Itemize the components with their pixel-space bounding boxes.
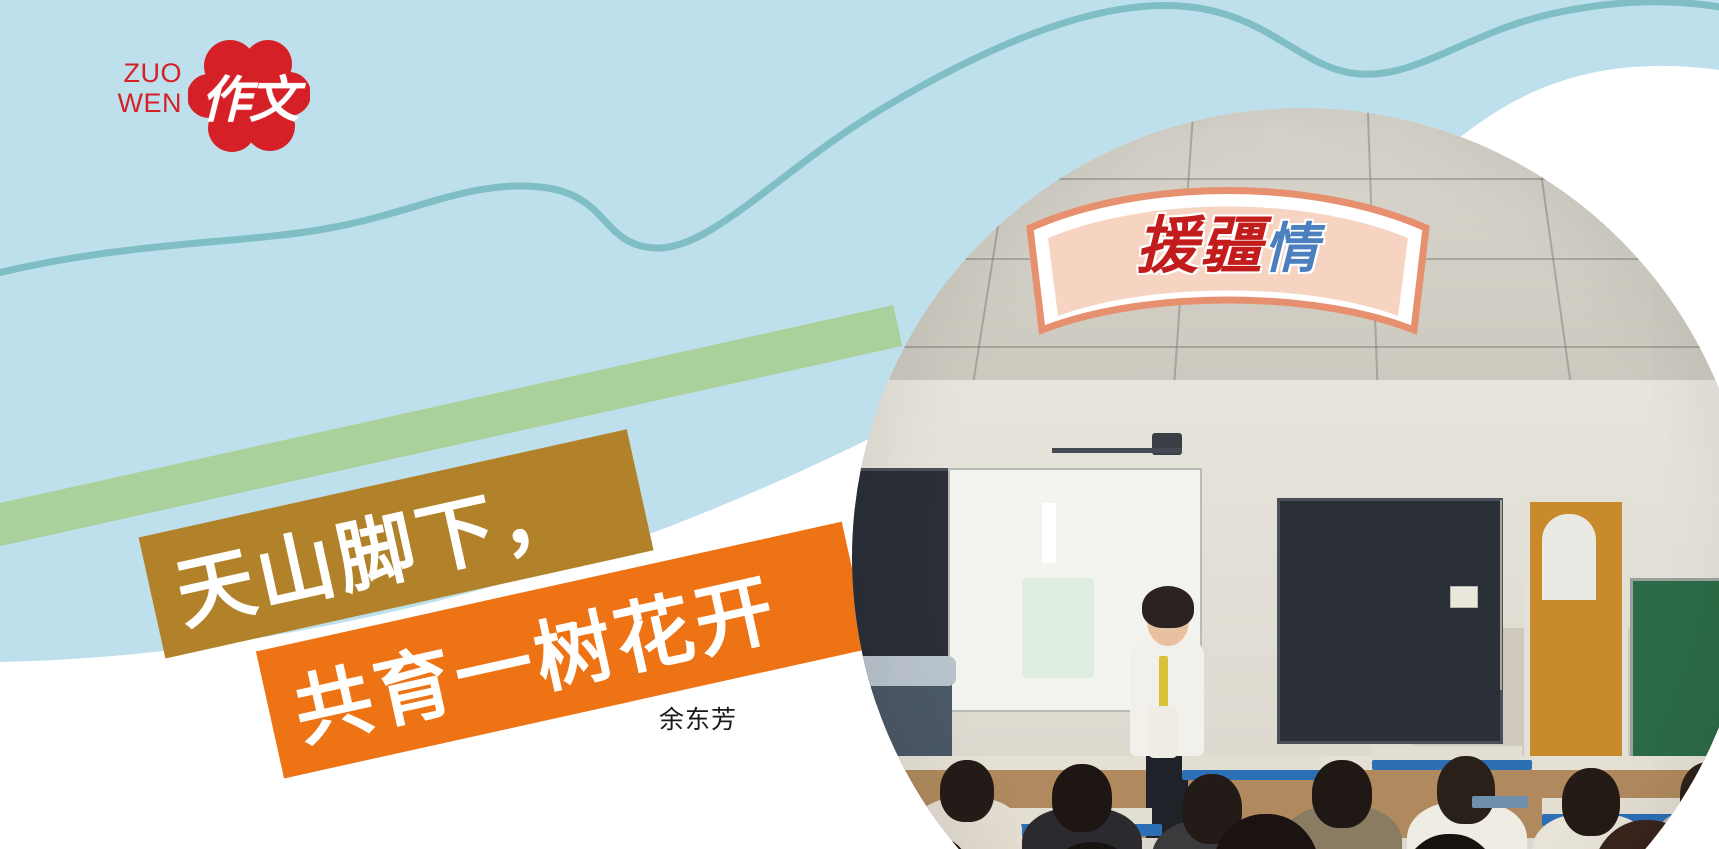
magazine-cover-page: ZUO WEN 作文 天山脚下， 共育一树花开 余东芳 [0,0,1719,849]
yuanjiang-banner: 援疆情 [1022,186,1434,336]
logo-characters: 作文 [188,38,310,153]
banner-text-blue: 情 [1264,216,1320,280]
banner-text: 援疆情 [1022,208,1434,286]
logo-pinyin-line2: WEN [90,88,182,118]
logo-pinyin-line1: ZUO [90,58,182,88]
logo-pinyin: ZUO WEN [90,58,182,118]
author-byline: 余东芳 [598,700,798,736]
magazine-logo: ZUO WEN 作文 [78,38,308,153]
banner-text-red: 援疆 [1136,209,1264,282]
